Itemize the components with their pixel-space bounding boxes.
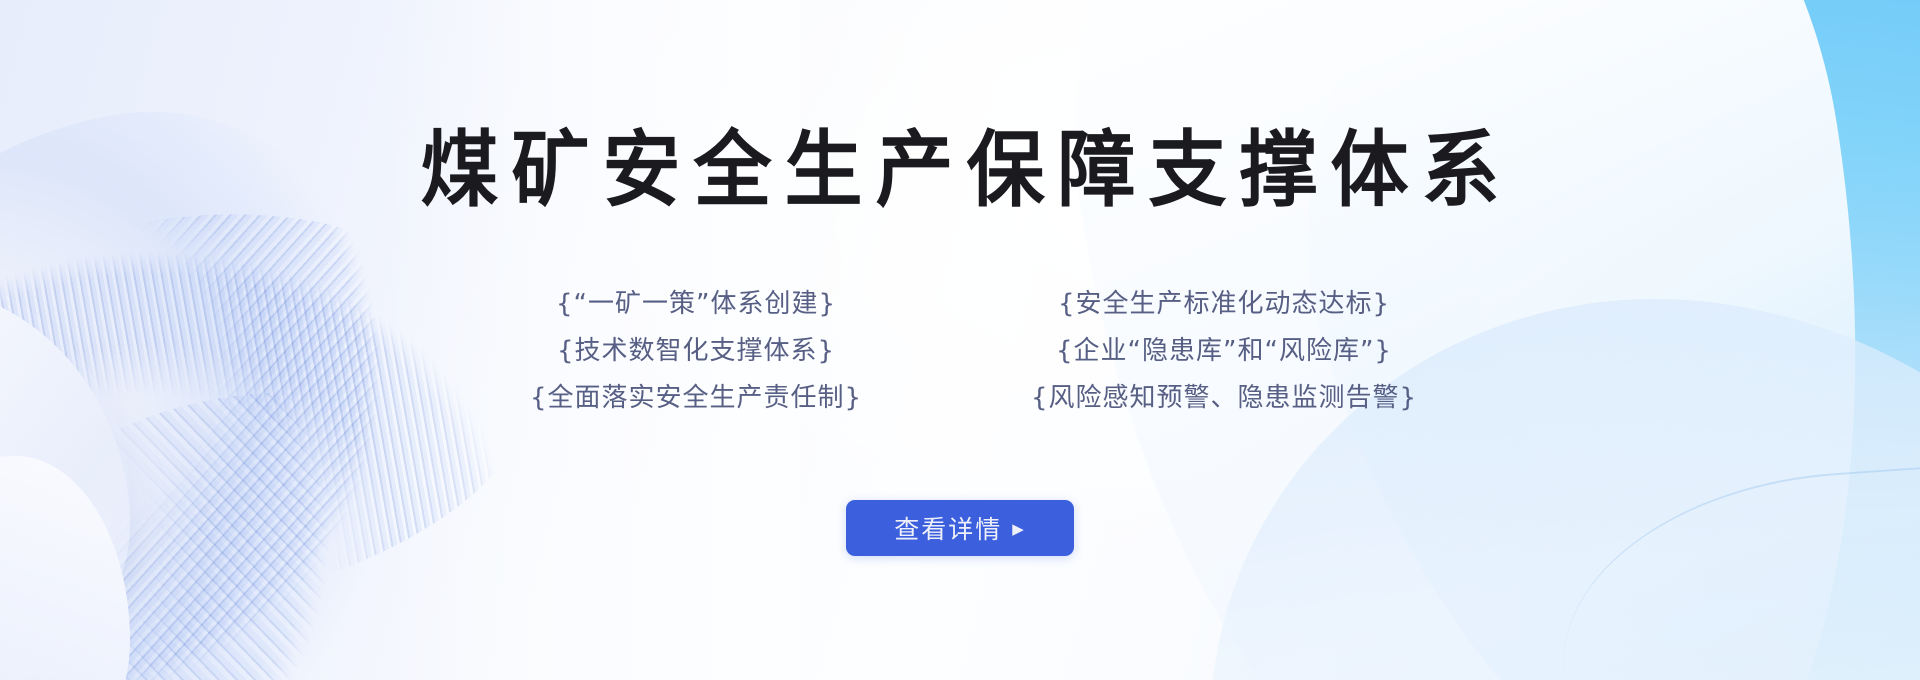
feature-item: {技术数智化支撑体系} xyxy=(496,333,896,369)
feature-column-left: {“一矿一策”体系创建} {技术数智化支撑体系} {全面落实安全生产责任制} xyxy=(496,286,896,416)
hero-banner: 煤矿安全生产保障支撑体系 {“一矿一策”体系创建} {技术数智化支撑体系} {全… xyxy=(0,0,1920,680)
feature-item: {“一矿一策”体系创建} xyxy=(496,286,896,322)
feature-item: {全面落实安全生产责任制} xyxy=(496,380,896,416)
cta-container: 查看详情 ▶ xyxy=(0,500,1920,556)
banner-content: 煤矿安全生产保障支撑体系 {“一矿一策”体系创建} {技术数智化支撑体系} {全… xyxy=(0,0,1920,680)
page-title: 煤矿安全生产保障支撑体系 xyxy=(0,130,1920,213)
feature-column-right: {安全生产标准化动态达标} {企业“隐患库”和“风险库”} {风险感知预警、隐患… xyxy=(1024,286,1424,416)
feature-columns: {“一矿一策”体系创建} {技术数智化支撑体系} {全面落实安全生产责任制} {… xyxy=(0,286,1920,416)
view-details-button[interactable]: 查看详情 ▶ xyxy=(846,500,1074,556)
feature-item: {安全生产标准化动态达标} xyxy=(1024,286,1424,322)
arrow-right-icon: ▶ xyxy=(1012,522,1026,537)
feature-item: {企业“隐患库”和“风险库”} xyxy=(1024,333,1424,369)
view-details-label: 查看详情 xyxy=(894,510,1002,546)
feature-item: {风险感知预警、隐患监测告警} xyxy=(1024,380,1424,416)
